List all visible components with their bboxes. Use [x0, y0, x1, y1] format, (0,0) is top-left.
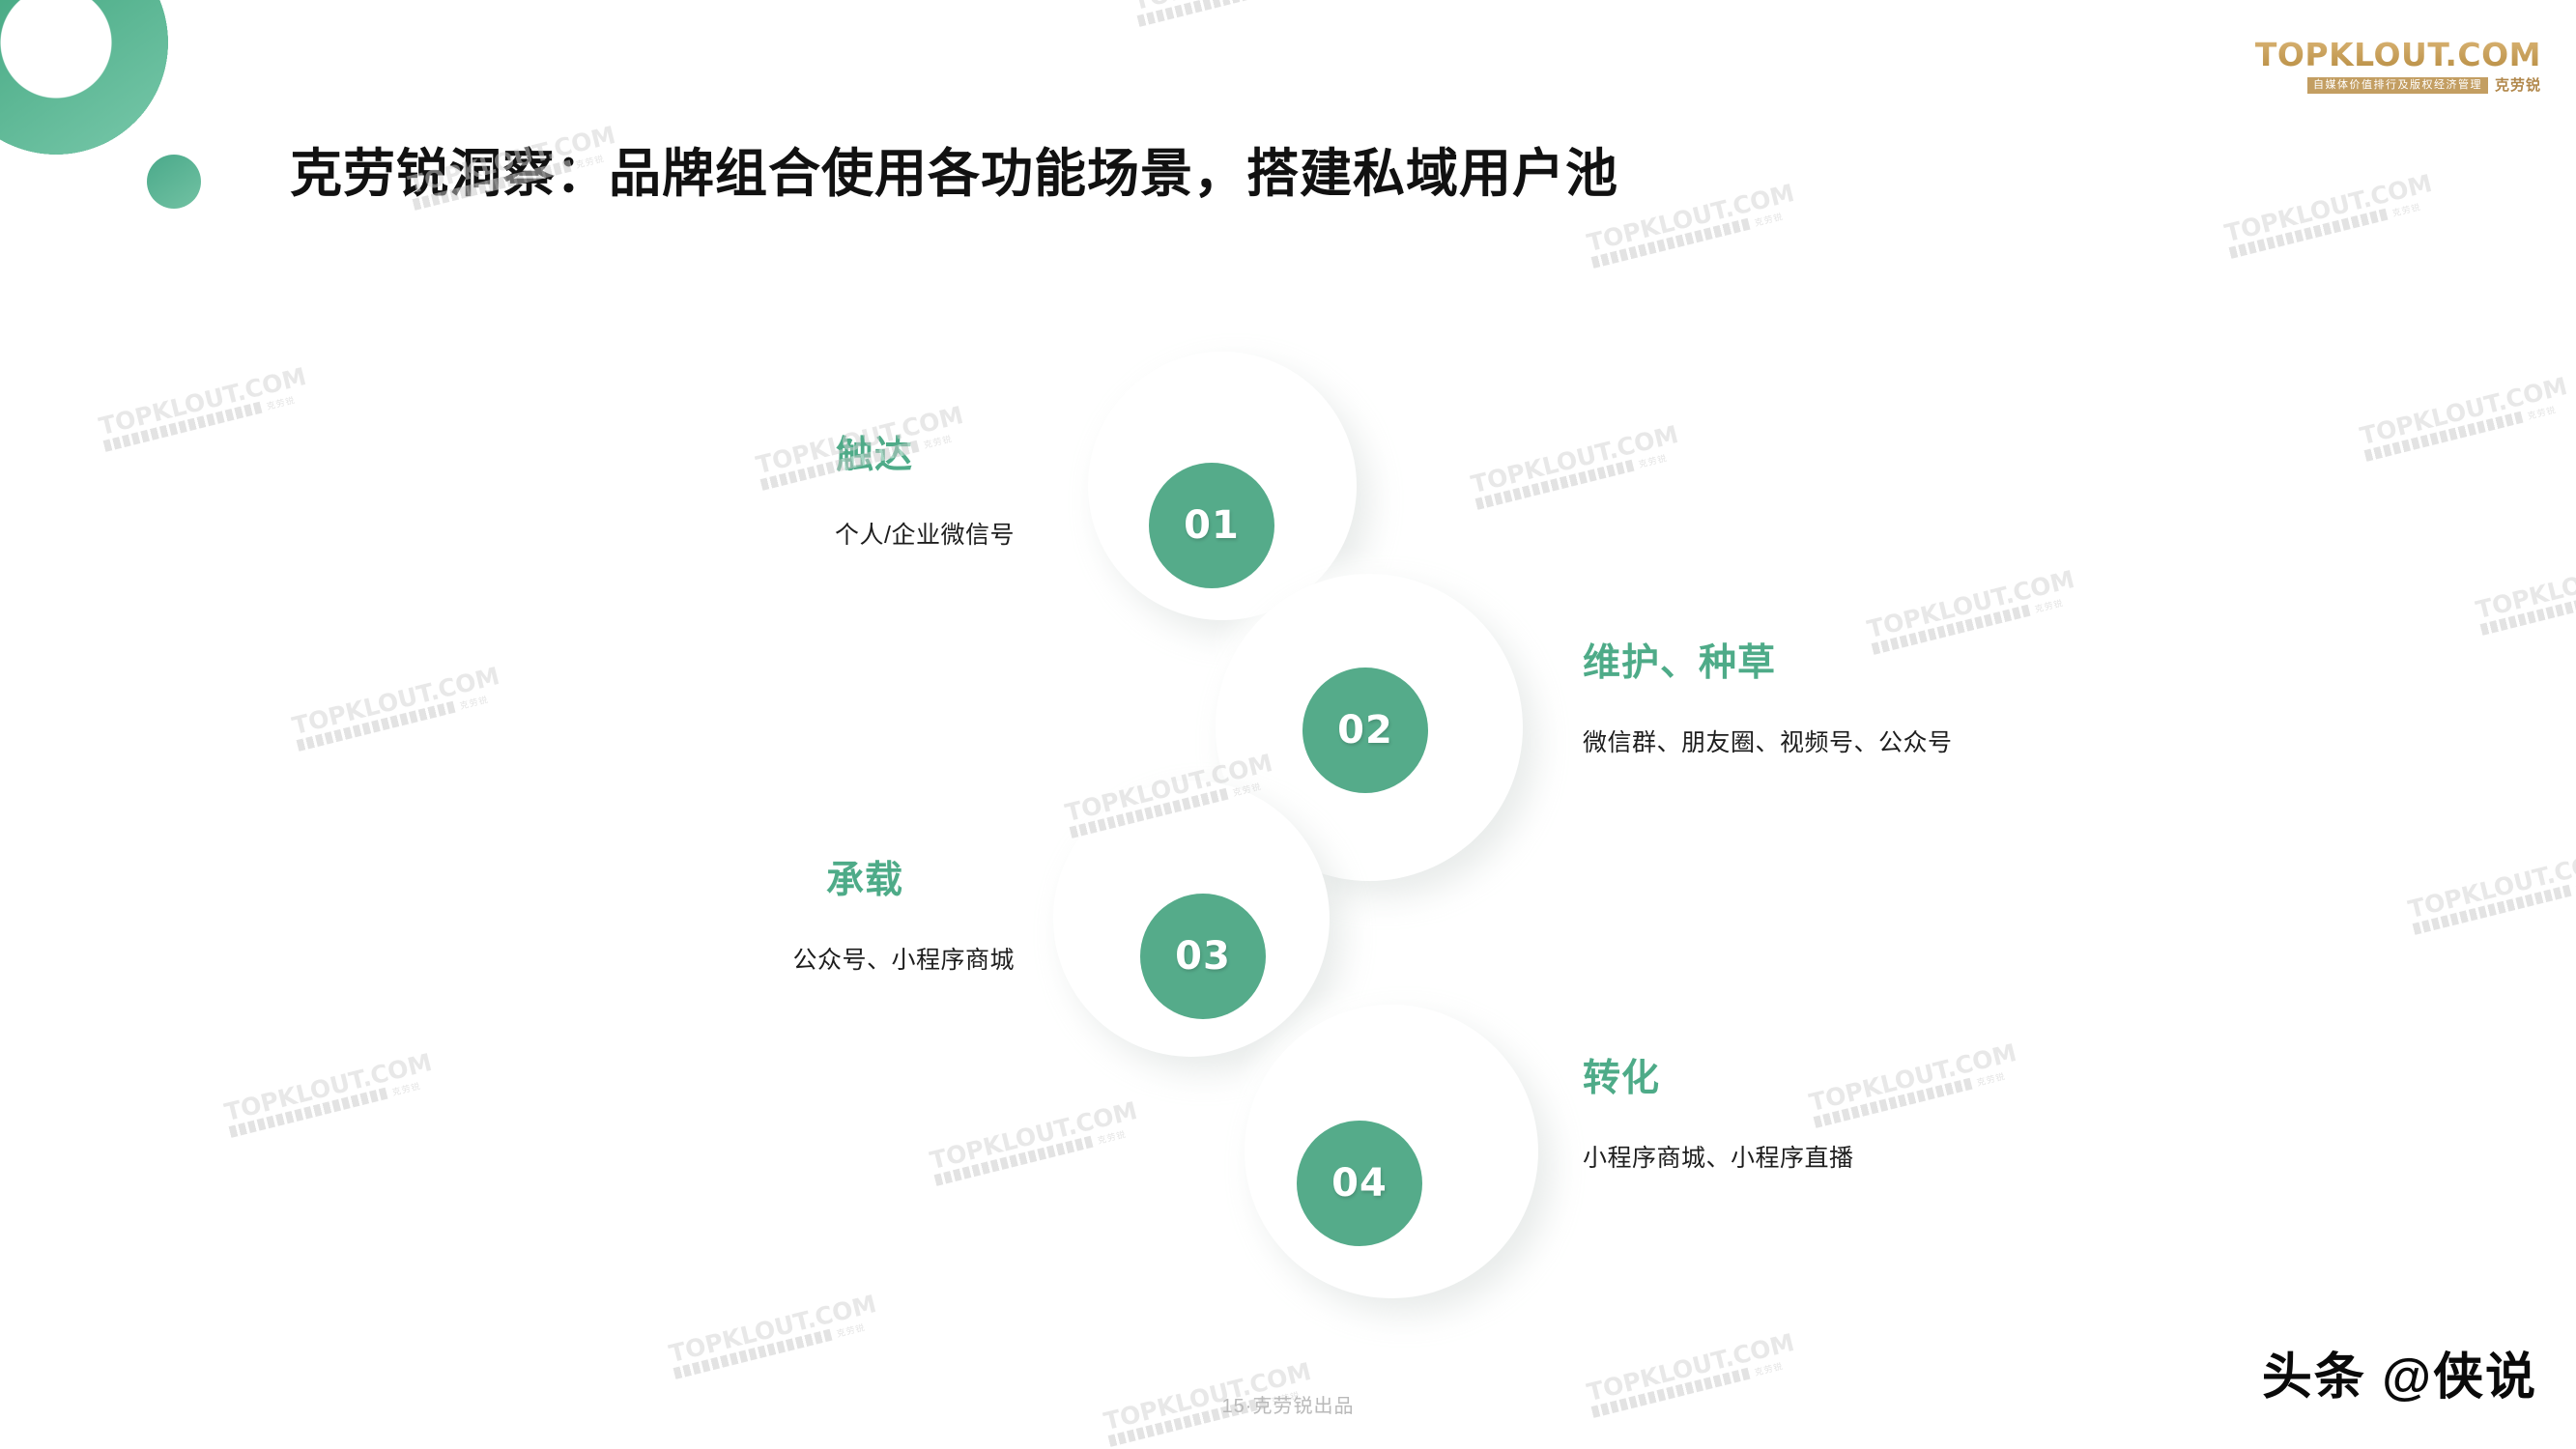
- step-number-badge-1[interactable]: 01: [1149, 463, 1274, 588]
- step-headline-4: 转化: [1583, 1048, 1989, 1102]
- step-number-badge-3[interactable]: 03: [1140, 894, 1266, 1019]
- step-detail-1: 个人/企业微信号: [734, 516, 1015, 551]
- step-detail-3: 公众号、小程序商城: [715, 941, 1015, 976]
- step-headline-3: 承载: [715, 850, 1015, 904]
- step-number-badge-2[interactable]: 02: [1302, 668, 1428, 793]
- step-detail-2: 微信群、朋友圈、视频号、公众号: [1583, 724, 2037, 758]
- step-label-2: 维护、种草 微信群、朋友圈、视频号、公众号: [1583, 633, 2037, 758]
- step-label-3: 承载 公众号、小程序商城: [715, 850, 1015, 976]
- slide-footer-note: 15·克劳锐出品: [1222, 1390, 1355, 1418]
- slide-canvas: TOPKLOUT.COM 自媒体价值排行及版权经济管理 克劳锐 克劳锐洞察：品牌…: [0, 0, 2576, 1449]
- step-detail-4: 小程序商城、小程序直播: [1583, 1139, 1989, 1174]
- corner-brand-label: 头条 @侠说: [2262, 1336, 2537, 1408]
- step-label-4: 转化 小程序商城、小程序直播: [1583, 1048, 1989, 1174]
- step-headline-2: 维护、种草: [1583, 633, 2037, 687]
- step-number-badge-4[interactable]: 04: [1297, 1121, 1422, 1246]
- step-headline-1: 触达: [734, 425, 1015, 479]
- step-label-1: 触达 个人/企业微信号: [734, 425, 1015, 551]
- funnel-diagram: 01 02 03 04 触达 个人/企业微信号 维护、种草 微信群、朋友圈、视频…: [0, 0, 2576, 1449]
